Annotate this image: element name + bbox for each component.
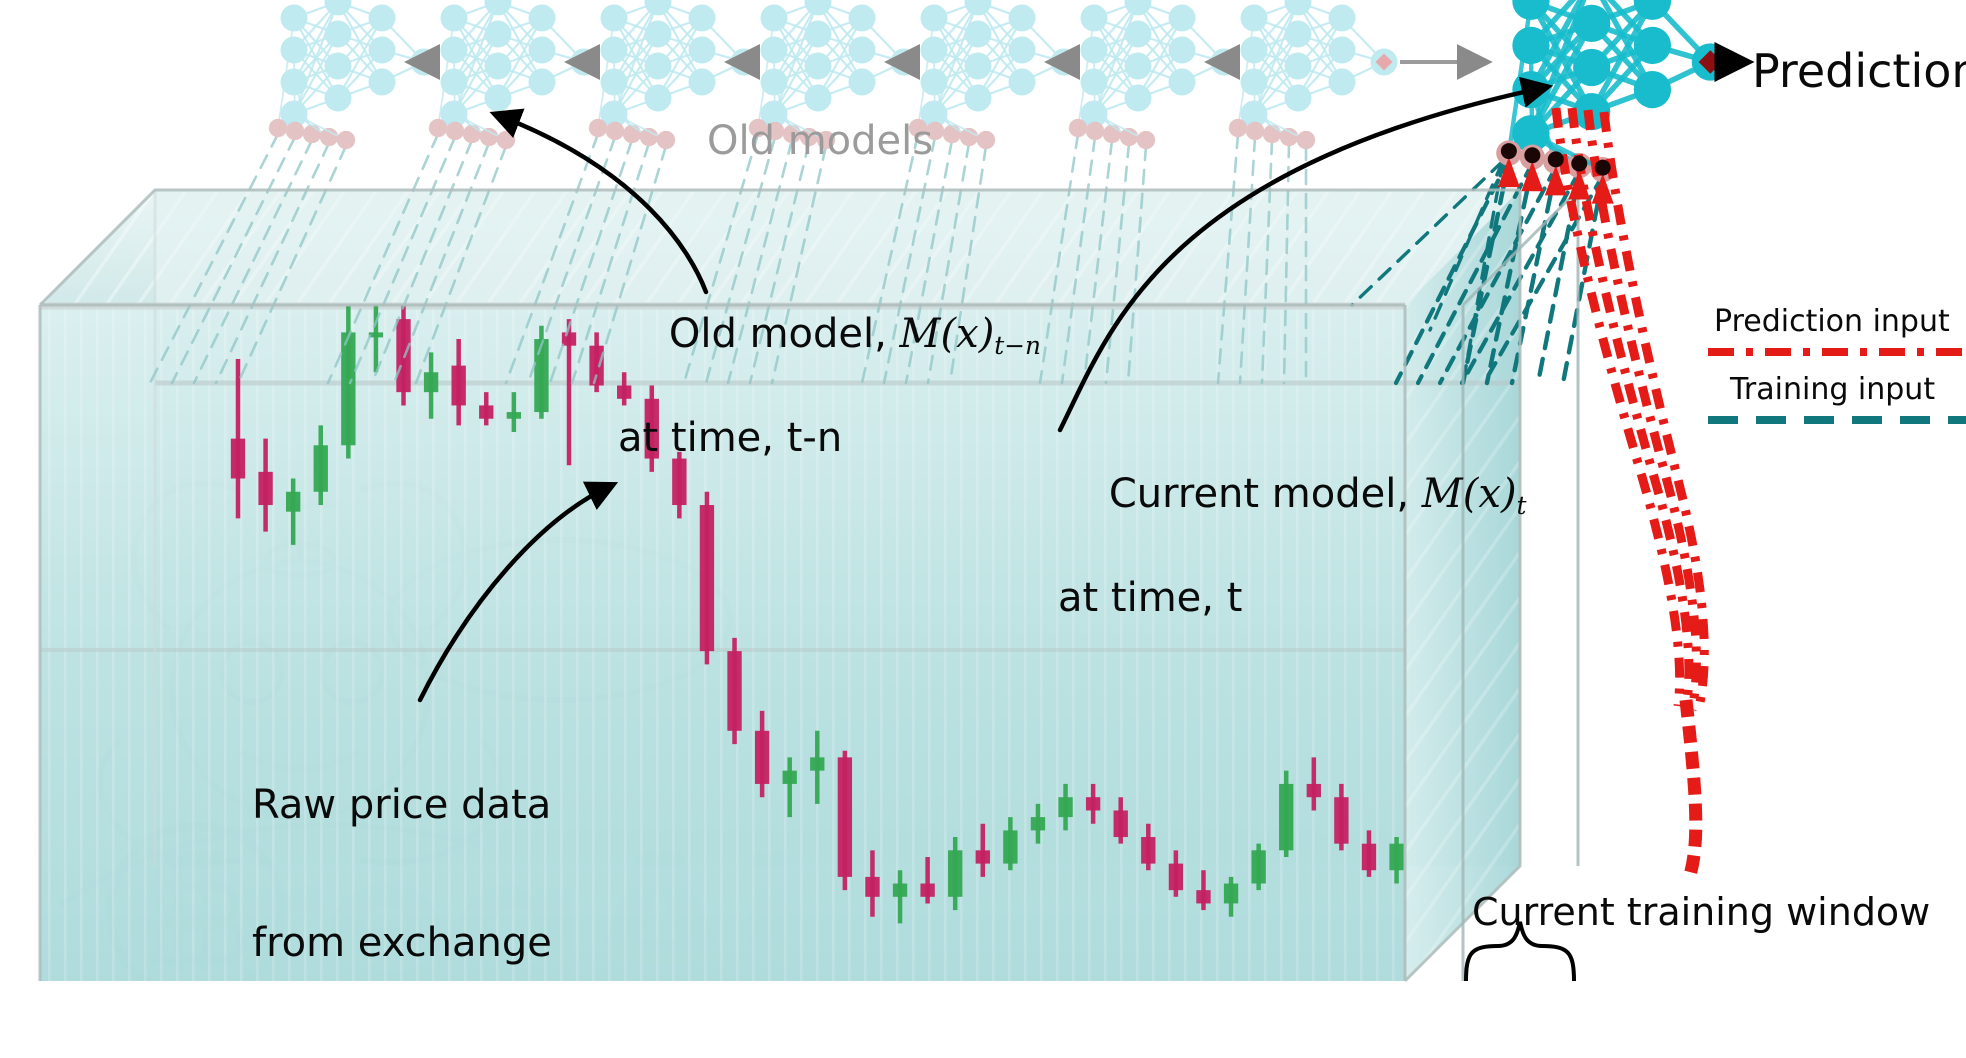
raw-price-annotation-line2: from exchange	[252, 920, 552, 966]
legend-label-training-input: Training input	[1730, 372, 1935, 407]
current-training-window-label: Current training window	[1472, 890, 1930, 934]
current-model-annotation-line1: ​Current model, M(x)t	[1109, 471, 1527, 517]
current-model-annotation-line2: at time, t	[1058, 575, 1527, 621]
raw-price-annotation-line1: Raw price data	[252, 782, 552, 828]
old-model-annotation-line2: at time, t-n	[618, 415, 1041, 461]
old-models-label: Old models	[707, 118, 933, 164]
diagram-canvas: FreqAI	[0, 0, 1966, 981]
old-model-annotation-line1: ​Old model, M(x)t−n	[669, 311, 1041, 357]
old-model-annotation: ​Old model, M(x)t−n at time, t-n	[618, 265, 1041, 553]
raw-price-annotation: Raw price data from exchange	[252, 690, 552, 1058]
prediction-output-label: Prediction	[1752, 44, 1966, 98]
current-model-annotation: ​Current model, M(x)t at time, t	[1058, 425, 1527, 713]
legend-label-prediction-input: Prediction input	[1714, 304, 1950, 339]
